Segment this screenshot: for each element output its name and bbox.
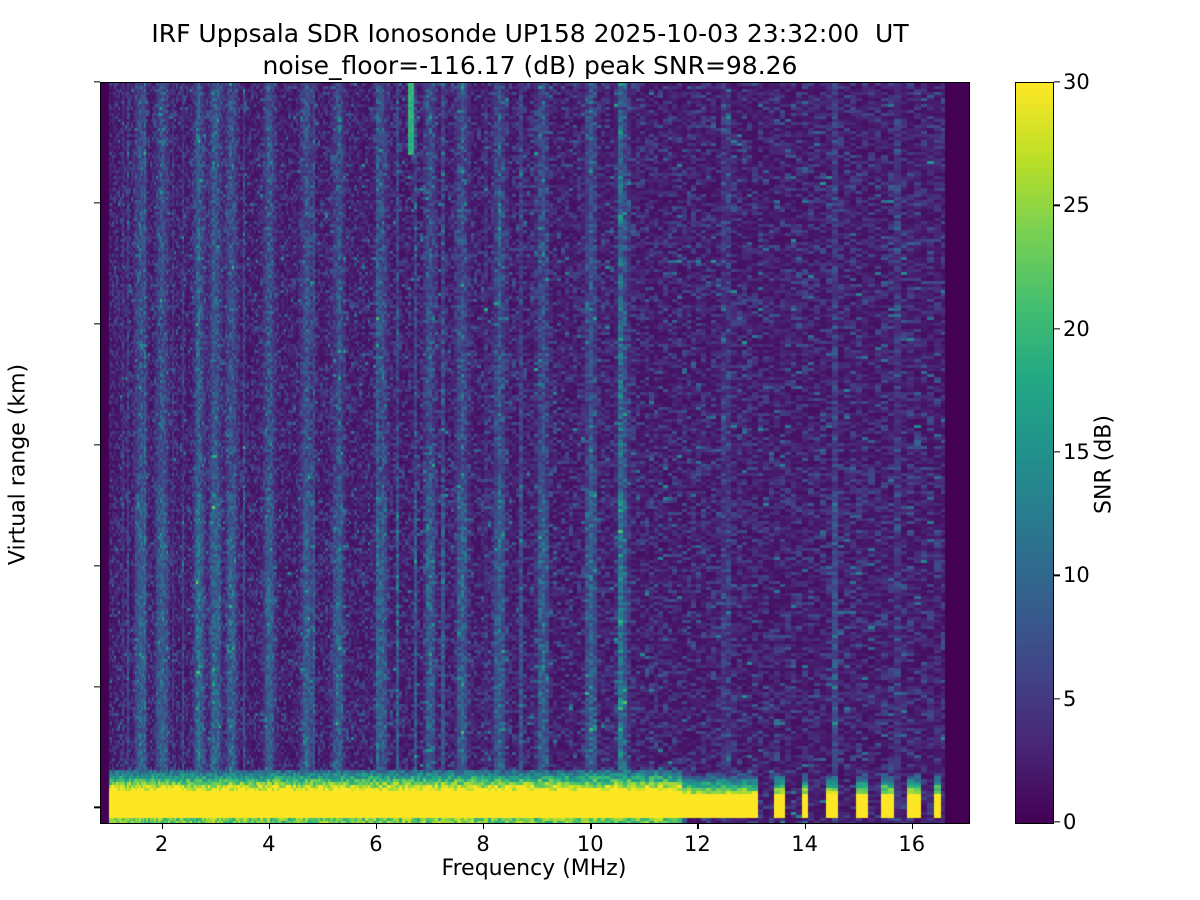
y-axis-label: Virtual range (km) (6, 185, 31, 745)
x-tick-mark (269, 823, 270, 829)
x-tick-label-10: 10 (550, 832, 630, 856)
x-tick-label-12: 12 (657, 832, 737, 856)
colorbar-tick-label-15: 15 (1063, 440, 1153, 464)
y-tick-mark (94, 81, 100, 82)
colorbar-tick-mark (1054, 698, 1060, 699)
title-line-2: noise_floor=-116.17 (dB) peak SNR=98.26 (0, 50, 1060, 82)
x-tick-label-6: 6 (336, 832, 416, 856)
x-tick-mark (805, 823, 806, 829)
colorbar-tick-mark (1054, 81, 1060, 82)
ionogram-figure: IRF Uppsala SDR Ionosonde UP158 2025-10-… (0, 0, 1200, 900)
x-tick-label-14: 14 (765, 832, 845, 856)
x-tick-mark (590, 823, 591, 829)
ionogram-heatmap (101, 83, 969, 823)
x-axis-label: Frequency (MHz) (100, 856, 968, 881)
colorbar-tick-label-25: 25 (1063, 193, 1153, 217)
x-tick-label-2: 2 (122, 832, 202, 856)
colorbar-tick-label-5: 5 (1063, 687, 1153, 711)
colorbar-tick-label-30: 30 (1063, 70, 1153, 94)
x-tick-mark (162, 823, 163, 829)
colorbar-label: SNR (dB) (1092, 185, 1117, 745)
y-tick-mark (94, 202, 100, 203)
title-line-1: IRF Uppsala SDR Ionosonde UP158 2025-10-… (0, 18, 1060, 50)
colorbar[interactable] (1015, 82, 1054, 824)
ionogram-plot-area[interactable] (100, 82, 970, 824)
colorbar-tick-mark (1054, 328, 1060, 329)
colorbar-tick-label-20: 20 (1063, 317, 1153, 341)
colorbar-gradient (1016, 83, 1053, 823)
colorbar-tick-mark (1054, 575, 1060, 576)
x-tick-mark (376, 823, 377, 829)
colorbar-tick-label-10: 10 (1063, 563, 1153, 587)
figure-title: IRF Uppsala SDR Ionosonde UP158 2025-10-… (0, 18, 1060, 82)
y-tick-mark (94, 686, 100, 687)
x-tick-label-16: 16 (872, 832, 952, 856)
y-tick-mark (94, 444, 100, 445)
colorbar-tick-mark (1054, 821, 1060, 822)
y-tick-mark (94, 807, 100, 808)
colorbar-tick-label-0: 0 (1063, 810, 1153, 834)
x-tick-label-4: 4 (229, 832, 309, 856)
x-tick-mark (912, 823, 913, 829)
x-tick-label-8: 8 (443, 832, 523, 856)
colorbar-tick-mark (1054, 205, 1060, 206)
colorbar-tick-mark (1054, 451, 1060, 452)
x-tick-mark (697, 823, 698, 829)
y-tick-mark (94, 323, 100, 324)
y-tick-mark (94, 565, 100, 566)
x-tick-mark (483, 823, 484, 829)
